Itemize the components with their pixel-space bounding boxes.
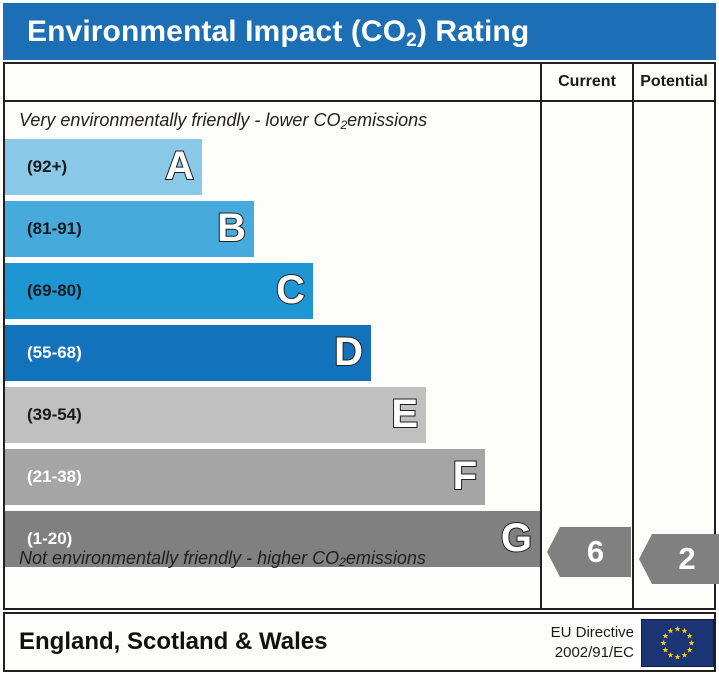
potential-rating-marker: 2 (639, 534, 719, 584)
directive-line-2: 2002/91/EC (524, 643, 634, 663)
band-letter-d: D (334, 332, 363, 372)
eu-flag-icon (641, 619, 714, 667)
band-range-e: (39-54) (5, 405, 82, 425)
band-letter-b: B (217, 208, 246, 248)
band-range-b: (81-91) (5, 219, 82, 239)
band-letter-e: E (391, 394, 418, 434)
column-separator-current (540, 64, 542, 608)
page-title: Environmental Impact (CO2) Rating (3, 15, 529, 49)
band-letter-c: C (276, 270, 305, 310)
page-title-tail: ) Rating (417, 15, 529, 48)
rating-table: Current Potential Very environmentally f… (3, 62, 716, 610)
page-title-main: Environmental Impact (CO (27, 15, 406, 48)
band-range-a: (92+) (5, 157, 67, 177)
column-header-potential: Potential (634, 64, 714, 100)
caption-bottom-subscript: 2 (339, 555, 346, 569)
band-range-d: (55-68) (5, 343, 82, 363)
band-letter-a: A (165, 146, 194, 186)
chart-title-bar: Environmental Impact (CO2) Rating (3, 3, 716, 60)
band-letter-f: F (453, 456, 477, 496)
caption-top-subscript: 2 (340, 118, 347, 132)
rating-bands: (92+) A (81-91) B (69-80) C (55-68) D (3… (5, 139, 538, 539)
caption-bottom-pre: Not environmentally friendly - higher CO (19, 548, 339, 569)
rating-band-b: (81-91) B (5, 201, 254, 257)
caption-bottom: Not environmentally friendly - higher CO… (5, 538, 538, 578)
rating-band-c: (69-80) C (5, 263, 313, 319)
column-header-current: Current (542, 64, 632, 100)
band-range-f: (21-38) (5, 467, 82, 487)
table-header-row: Current Potential (5, 64, 714, 102)
caption-top-pre: Very environmentally friendly - lower CO (19, 110, 340, 131)
directive-line-1: EU Directive (524, 623, 634, 643)
rating-band-d: (55-68) D (5, 325, 371, 381)
caption-top: Very environmentally friendly - lower CO… (5, 102, 538, 139)
footer-region-label: England, Scotland & Wales (5, 628, 327, 656)
footer-directive: EU Directive 2002/91/EC (524, 620, 634, 666)
epc-environmental-impact-chart: Environmental Impact (CO2) Rating Curren… (0, 0, 719, 675)
page-title-subscript: 2 (406, 30, 417, 51)
band-range-c: (69-80) (5, 281, 82, 301)
column-separator-potential (632, 64, 634, 608)
rating-band-f: (21-38) F (5, 449, 485, 505)
rating-band-a: (92+) A (5, 139, 202, 195)
chart-footer: England, Scotland & Wales EU Directive 2… (3, 612, 716, 672)
caption-bottom-post: emissions (346, 548, 426, 569)
rating-band-e: (39-54) E (5, 387, 426, 443)
current-rating-marker: 6 (547, 527, 631, 577)
caption-top-post: emissions (347, 110, 427, 131)
